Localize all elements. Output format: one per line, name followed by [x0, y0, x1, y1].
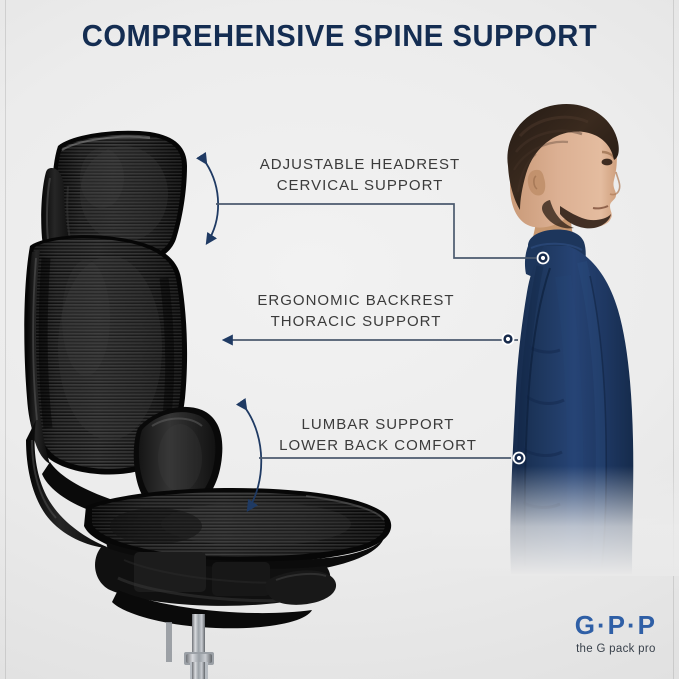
callout-lumbar-line1: LUMBAR SUPPORT — [250, 414, 506, 435]
head-profile — [507, 104, 619, 228]
office-chair-illustration — [6, 128, 426, 679]
callout-headrest-line2: CERVICAL SUPPORT — [232, 175, 488, 196]
callout-headrest-line1: ADJUSTABLE HEADREST — [232, 154, 488, 175]
figure-fade-out — [432, 466, 679, 576]
callout-lumbar-text: LUMBAR SUPPORT LOWER BACK COMFORT — [250, 414, 506, 456]
callout-backrest-line2: THORACIC SUPPORT — [228, 311, 484, 332]
callout-backrest-line1: ERGONOMIC BACKREST — [228, 290, 484, 311]
brand-logo: G·P·P the G pack pro — [575, 611, 657, 657]
callout-backrest-text: ERGONOMIC BACKREST THORACIC SUPPORT — [228, 290, 484, 332]
logo-tagline: the G pack pro — [575, 641, 657, 657]
page-title: COMPREHENSIVE SPINE SUPPORT — [20, 18, 658, 54]
callout-lumbar-line2: LOWER BACK COMFORT — [250, 435, 506, 456]
callout-headrest-text: ADJUSTABLE HEADREST CERVICAL SUPPORT — [232, 154, 488, 196]
logo-mark: G·P·P — [575, 611, 657, 639]
infographic-canvas: COMPREHENSIVE SPINE SUPPORT ADJUSTABLE H… — [0, 0, 679, 679]
